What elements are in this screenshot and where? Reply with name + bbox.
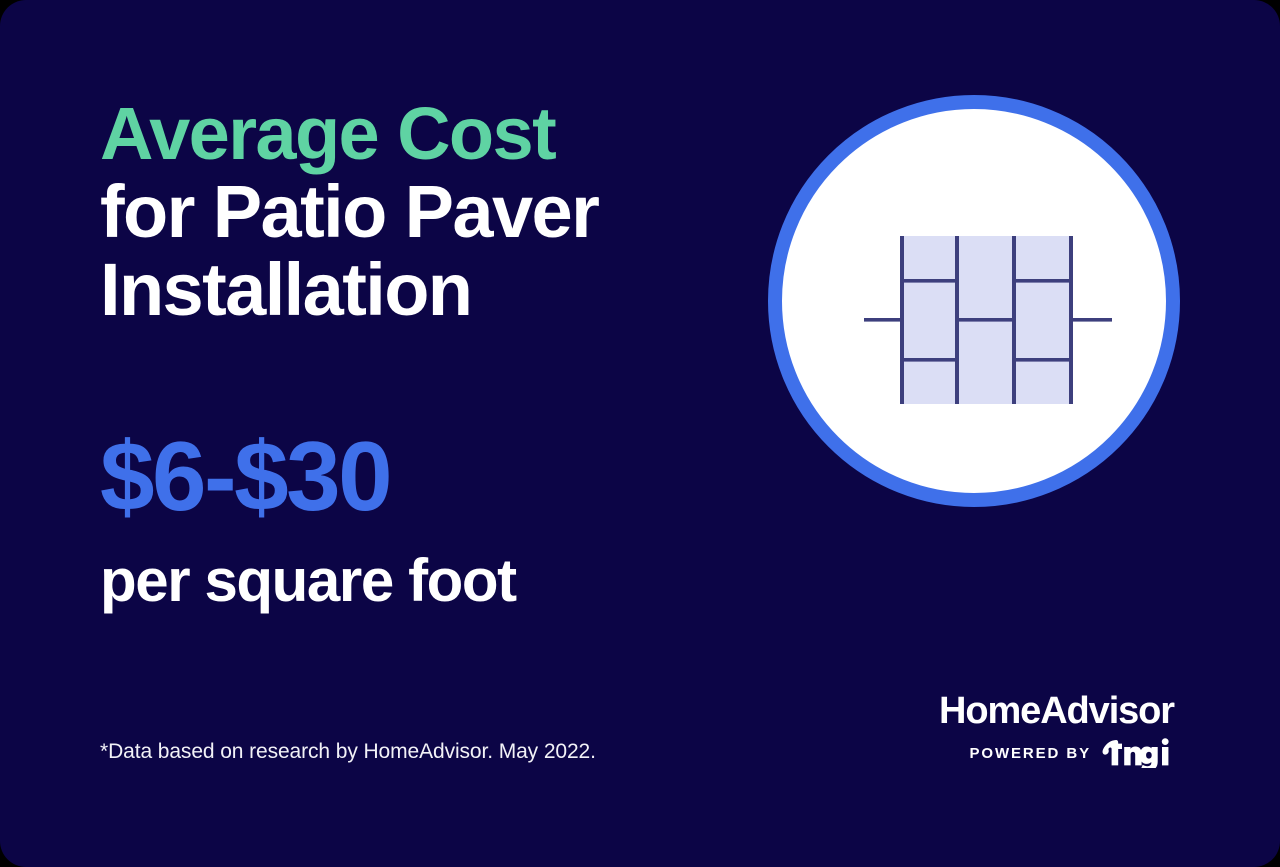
price-range: $6-$30: [100, 424, 390, 528]
infographic-card: Average Cost for Patio Paver Installatio…: [0, 0, 1280, 867]
brand-name: HomeAdvisor: [854, 690, 1174, 732]
data-source-footnote: *Data based on research by HomeAdvisor. …: [100, 739, 596, 765]
paver-pattern-icon: [782, 109, 1194, 521]
headline-line-2: for Patio Paver: [100, 173, 720, 251]
headline-line-1: Average Cost: [100, 95, 720, 173]
price-unit-label: per square foot: [100, 548, 516, 614]
page-title: Average Cost for Patio Paver Installatio…: [100, 95, 720, 329]
brand-powered-by-row: POWERED BY: [854, 738, 1174, 768]
angi-logo-icon: [1100, 738, 1174, 768]
patio-paver-circle-icon: [768, 95, 1180, 507]
brand-lockup: HomeAdvisor POWERED BY: [854, 690, 1174, 768]
powered-by-label: POWERED BY: [969, 745, 1091, 762]
headline-line-3: Installation: [100, 251, 720, 329]
